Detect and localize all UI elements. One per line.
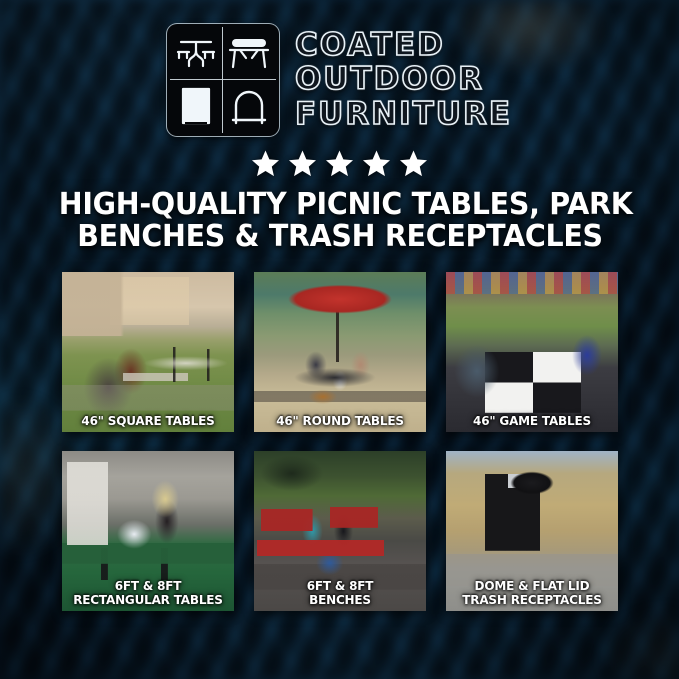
brand-word-coated: COATED bbox=[295, 30, 512, 62]
round-tables-photo bbox=[254, 272, 426, 432]
star-icon bbox=[325, 149, 354, 178]
trash-receptacle-icon bbox=[170, 80, 223, 133]
product-tile-square-tables[interactable]: 46" SQUARE TABLES bbox=[62, 272, 234, 432]
product-caption: 46" SQUARE TABLES bbox=[65, 414, 230, 428]
caption-line: 46" ROUND TABLES bbox=[260, 414, 419, 428]
game-tables-photo bbox=[446, 272, 618, 432]
product-tile-round-tables[interactable]: 46" ROUND TABLES bbox=[254, 272, 426, 432]
product-tile-rectangular-tables[interactable]: 6FT & 8FT RECTANGULAR TABLES bbox=[62, 451, 234, 611]
square-tables-photo bbox=[62, 272, 234, 432]
caption-line: TRASH RECEPTACLES bbox=[452, 593, 611, 607]
product-tile-game-tables[interactable]: 46" GAME TABLES bbox=[446, 272, 618, 432]
caption-line: 46" SQUARE TABLES bbox=[68, 414, 227, 428]
picnic-table-icon bbox=[170, 27, 223, 80]
product-category-grid: 46" SQUARE TABLES 46" ROUND TABLES 46" G… bbox=[62, 272, 618, 611]
page-title: HIGH-QUALITY PICNIC TABLES, PARK BENCHES… bbox=[58, 189, 620, 253]
caption-line: RECTANGULAR TABLES bbox=[68, 593, 227, 607]
caption-line: 6FT & 8FT bbox=[68, 579, 227, 593]
bench-icon bbox=[223, 27, 276, 80]
star-icon bbox=[362, 149, 391, 178]
headline-line-1: HIGH-QUALITY PICNIC TABLES, PARK bbox=[58, 189, 620, 221]
caption-line: BENCHES bbox=[260, 593, 419, 607]
product-caption: DOME & FLAT LID TRASH RECEPTACLES bbox=[449, 579, 614, 606]
product-tile-trash-receptacles[interactable]: DOME & FLAT LID TRASH RECEPTACLES bbox=[446, 451, 618, 611]
promotional-banner: COATED OUTDOOR FURNITURE HIGH-QUALITY PI… bbox=[0, 0, 679, 679]
product-caption: 6FT & 8FT RECTANGULAR TABLES bbox=[65, 579, 230, 606]
brand-word-furniture: FURNITURE bbox=[295, 99, 512, 131]
banner-content: COATED OUTDOOR FURNITURE HIGH-QUALITY PI… bbox=[0, 0, 679, 679]
star-rating bbox=[251, 149, 428, 178]
star-icon bbox=[399, 149, 428, 178]
product-caption: 46" ROUND TABLES bbox=[257, 414, 422, 428]
star-icon bbox=[288, 149, 317, 178]
logo-icon-grid bbox=[167, 24, 279, 136]
brand-word-outdoor: OUTDOOR bbox=[295, 64, 512, 96]
product-tile-benches[interactable]: 6FT & 8FT BENCHES bbox=[254, 451, 426, 611]
product-caption: 6FT & 8FT BENCHES bbox=[257, 579, 422, 606]
brand-wordmark: COATED OUTDOOR FURNITURE bbox=[295, 30, 512, 131]
headline-line-2: BENCHES & TRASH RECEPTACLES bbox=[58, 221, 620, 253]
caption-line: 6FT & 8FT bbox=[260, 579, 419, 593]
brand-logo: COATED OUTDOOR FURNITURE bbox=[167, 24, 512, 136]
caption-line: DOME & FLAT LID bbox=[452, 579, 611, 593]
bike-rack-icon bbox=[223, 80, 276, 133]
caption-line: 46" GAME TABLES bbox=[452, 414, 611, 428]
product-caption: 46" GAME TABLES bbox=[449, 414, 614, 428]
star-icon bbox=[251, 149, 280, 178]
